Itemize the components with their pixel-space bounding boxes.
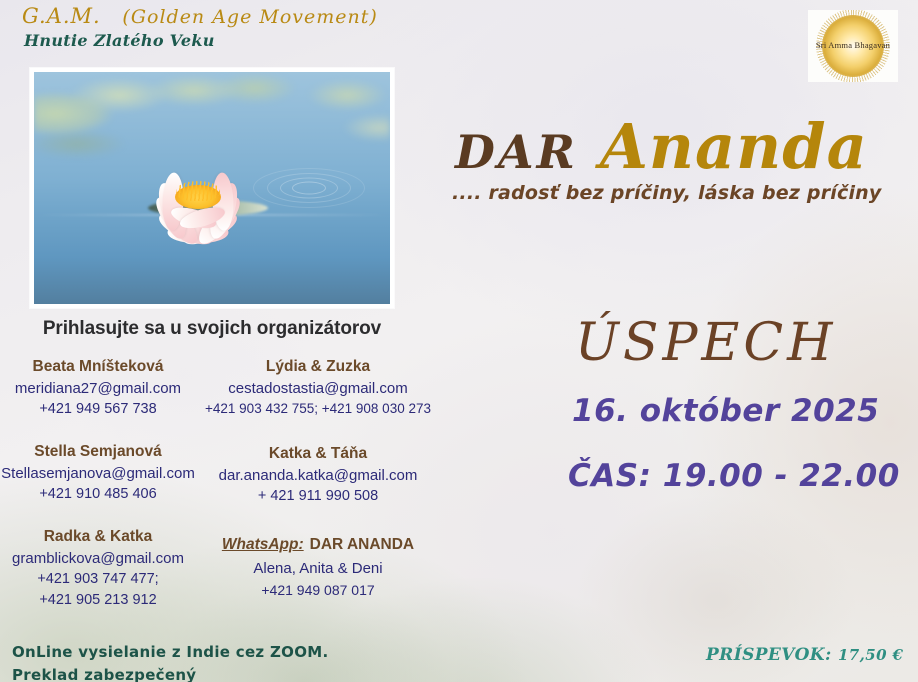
poster-canvas: G.A.M. (Golden Age Movement) Hnutie Zlat… xyxy=(0,0,918,682)
sri-amma-bhagavan-logo: Sri Amma Bhagavan xyxy=(808,10,898,82)
event-time: ČAS: 19.00 - 22.00 xyxy=(568,458,900,494)
title-word-ananda: Ananda xyxy=(600,110,868,183)
lotus-flower xyxy=(113,135,283,231)
broadcast-line-1: OnLine vysielanie z Indie cez ZOOM. xyxy=(12,641,329,664)
contact-phone[interactable]: +421 910 485 406 xyxy=(0,484,196,506)
organization-translation: Hnutie Zlatého Veku xyxy=(24,31,215,50)
broadcast-line-2: Preklad zabezpečený xyxy=(12,664,329,682)
contact-email[interactable]: Stellasemjanova@gmail.com xyxy=(0,465,196,482)
event-date: 16. október 2025 xyxy=(572,393,879,429)
contact-card: Stella Semjanová Stellasemjanova@gmail.c… xyxy=(0,443,196,506)
contact-card: Beata Mníšteková meridiana27@gmail.com +… xyxy=(0,358,196,421)
contact-phone[interactable]: +421 949 567 738 xyxy=(0,399,196,421)
page-title: DARAnanda xyxy=(455,110,868,183)
event-theme: ÚSPECH xyxy=(575,313,837,373)
broadcast-info: OnLine vysielanie z Indie cez ZOOM. Prek… xyxy=(12,641,329,682)
whatsapp-section: WhatsApp:DAR ANANDA Alena, Anita & Deni … xyxy=(196,536,440,598)
contact-name: Radka & Katka xyxy=(0,528,196,546)
contact-phone[interactable]: +421 903 432 755; +421 908 030 273 xyxy=(196,399,440,419)
contact-name: Beata Mníšteková xyxy=(0,358,196,376)
organization-abbrev: G.A.M. xyxy=(22,4,101,28)
title-tagline: .... radosť bez príčiny, láska bez príči… xyxy=(452,182,881,204)
contact-email[interactable]: cestadostastia@gmail.com xyxy=(196,380,440,397)
title-word-dar: DAR xyxy=(455,125,578,179)
lotus-stamens xyxy=(176,181,220,201)
contacts-column-left: Beata Mníšteková meridiana27@gmail.com +… xyxy=(0,358,196,626)
contact-email[interactable]: gramblickova@gmail.com xyxy=(0,550,196,567)
contact-phone[interactable]: + 421 911 990 508 xyxy=(196,486,440,508)
contacts-column-right: Lýdia & Zuzka cestadostastia@gmail.com +… xyxy=(196,358,440,522)
contact-card: Lýdia & Zuzka cestadostastia@gmail.com +… xyxy=(196,358,440,419)
lotus-photo-frame xyxy=(30,68,394,308)
whatsapp-people: Alena, Anita & Deni xyxy=(196,560,440,577)
contact-email[interactable]: dar.ananda.katka@gmail.com xyxy=(196,467,440,484)
organization-abbrev-line: G.A.M. (Golden Age Movement) xyxy=(22,4,378,28)
contact-name: Stella Semjanová xyxy=(0,443,196,461)
contact-card: Katka & Táňa dar.ananda.katka@gmail.com … xyxy=(196,445,440,508)
whatsapp-label: WhatsApp: xyxy=(222,536,304,553)
signup-heading: Prihlasujte sa u svojich organizátorov xyxy=(30,318,394,340)
price-label: PRÍSPEVOK: xyxy=(706,645,832,665)
whatsapp-phone[interactable]: +421 949 087 017 xyxy=(196,582,440,598)
contact-name: Lýdia & Zuzka xyxy=(196,358,440,376)
contact-name: Katka & Táňa xyxy=(196,445,440,463)
price-info: PRÍSPEVOK: 17,50 € xyxy=(706,645,903,665)
whatsapp-group-name: DAR ANANDA xyxy=(310,536,414,553)
logo-label: Sri Amma Bhagavan xyxy=(808,40,898,50)
whatsapp-heading: WhatsApp:DAR ANANDA xyxy=(196,536,440,554)
contact-phone-secondary[interactable]: +421 905 213 912 xyxy=(0,590,196,612)
price-amount: 17,50 € xyxy=(838,646,903,664)
organization-fullname: (Golden Age Movement) xyxy=(122,6,377,28)
contact-card: Radka & Katka gramblickova@gmail.com +42… xyxy=(0,528,196,613)
lotus-photo xyxy=(34,72,390,304)
contact-phone[interactable]: +421 903 747 477; xyxy=(0,569,196,591)
contact-email[interactable]: meridiana27@gmail.com xyxy=(0,380,196,397)
